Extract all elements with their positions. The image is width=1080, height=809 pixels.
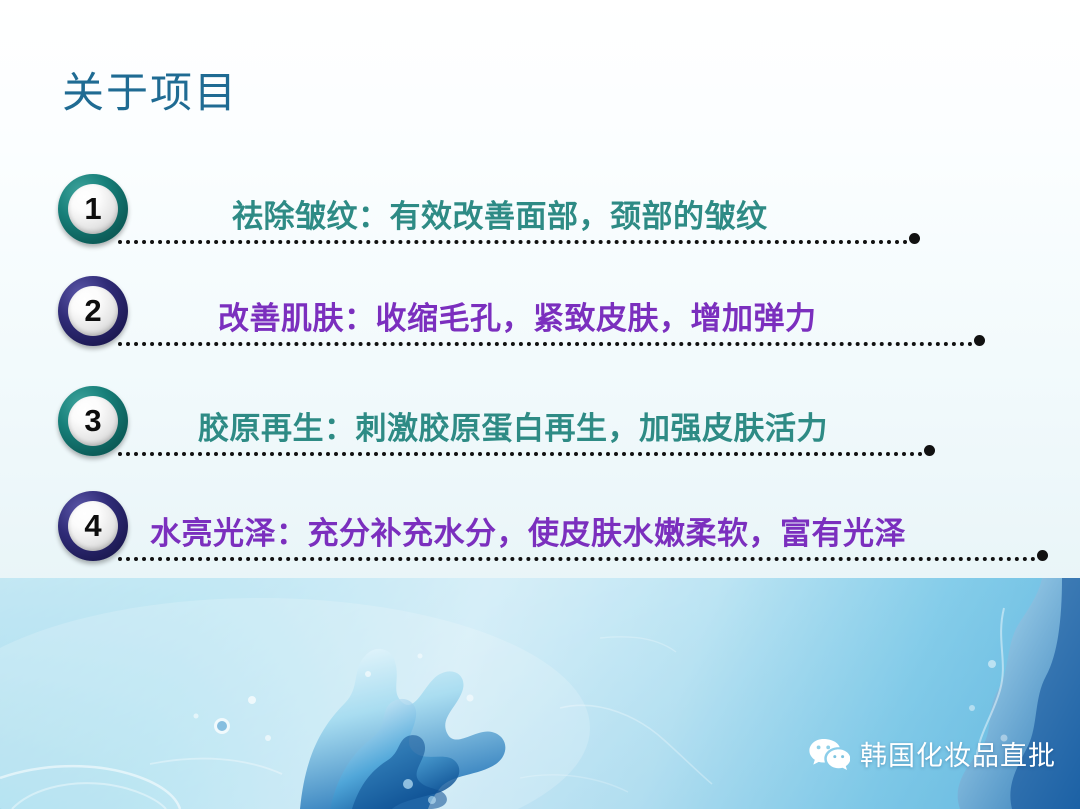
watermark: 韩国化妆品直批 xyxy=(808,734,1056,773)
badge-inner-2: 2 xyxy=(68,286,118,336)
bullet-text-1: 祛除皱纹：有效改善面部，颈部的皱纹 xyxy=(232,184,768,242)
bullet-number-badge-4: 4 xyxy=(58,491,128,561)
badge-inner-3: 3 xyxy=(68,396,118,446)
bullet-number-badge-2: 2 xyxy=(58,276,128,346)
bullet-dotted-rule-2 xyxy=(118,338,973,346)
bullet-number-2: 2 xyxy=(84,295,101,326)
bullet-number-4: 4 xyxy=(84,510,101,541)
badge-inner-1: 1 xyxy=(68,184,118,234)
bullet-number-badge-1: 1 xyxy=(58,174,128,244)
watermark-text: 韩国化妆品直批 xyxy=(860,734,1056,773)
bullet-number-3: 3 xyxy=(84,405,101,436)
bullet-number-1: 1 xyxy=(84,193,101,224)
water-splash-illustration xyxy=(0,578,1080,809)
bullet-dotted-rule-4 xyxy=(118,553,1036,561)
slide-canvas: 关于项目 1 祛除皱纹：有效改善面部，颈部的皱纹 2 改善肌肤：收缩毛孔，紧致皮… xyxy=(0,0,1080,809)
bullet-text-3: 胶原再生：刺激胶原蛋白再生，加强皮肤活力 xyxy=(198,396,828,454)
bullet-row: 2 改善肌肤：收缩毛孔，紧致皮肤，增加弹力 xyxy=(0,272,1080,360)
bullet-number-badge-3: 3 xyxy=(58,386,128,456)
page-title: 关于项目 xyxy=(62,70,238,116)
bullet-text-4: 水亮光泽：充分补充水分，使皮肤水嫩柔软，富有光泽 xyxy=(150,501,906,559)
bullet-dotted-rule-3 xyxy=(118,448,923,456)
bullet-row: 3 胶原再生：刺激胶原蛋白再生，加强皮肤活力 xyxy=(0,382,1080,470)
bullet-row: 1 祛除皱纹：有效改善面部，颈部的皱纹 xyxy=(0,170,1080,258)
wechat-icon xyxy=(808,737,850,771)
bullet-dotted-rule-1 xyxy=(118,236,908,244)
bullet-row: 4 水亮光泽：充分补充水分，使皮肤水嫩柔软，富有光泽 xyxy=(0,487,1080,575)
bullet-text-2: 改善肌肤：收缩毛孔，紧致皮肤，增加弹力 xyxy=(218,286,817,344)
water-splash-photo xyxy=(0,578,1080,809)
badge-inner-4: 4 xyxy=(68,501,118,551)
